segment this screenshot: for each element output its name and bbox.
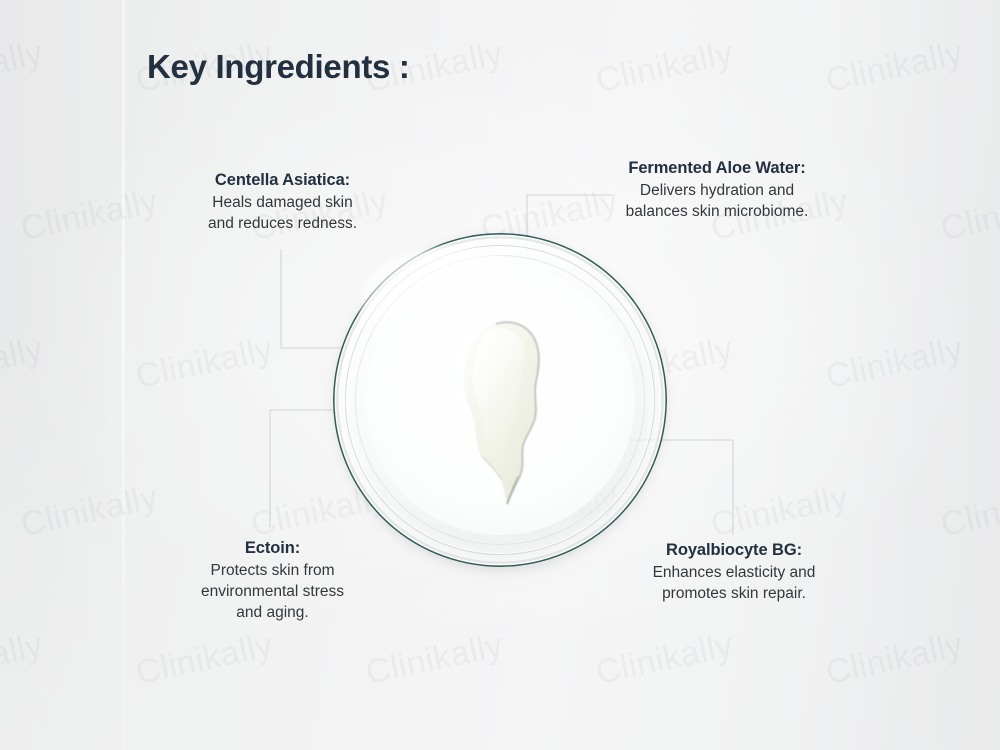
brand-watermark: Clinikally (937, 478, 1000, 545)
brand-watermark: Clinikally (362, 626, 506, 693)
background-band-edge (122, 0, 125, 750)
brand-watermark: Clinikally (937, 182, 1000, 249)
ingredient-desc-line: environmental stress (170, 582, 375, 603)
brand-watermark: Clinikally (132, 330, 276, 397)
background-band-lower-left (0, 320, 210, 750)
brand-watermark: Clinikally (592, 626, 736, 693)
ingredient-desc-line: Protects skin from (170, 561, 375, 582)
ingredient-desc-line: Heals damaged skin (175, 193, 390, 214)
ingredient-desc-line: Delivers hydration and (592, 181, 842, 202)
brand-watermark: Clinikally (17, 478, 161, 545)
ingredient-name: Royalbiocyte BG: (620, 541, 848, 560)
page-title: Key Ingredients : (147, 48, 410, 86)
ingredient-label-centella-asiatica: Centella Asiatica: Heals damaged skin an… (175, 171, 390, 235)
brand-watermark: Clinikally (822, 34, 966, 101)
brand-watermark: Clinikally (592, 34, 736, 101)
brand-watermark: Clinikally (0, 330, 47, 397)
cream-swatch (455, 318, 555, 508)
ingredient-desc-line: and aging. (170, 603, 375, 624)
ingredient-desc-line: and reduces redness. (175, 214, 390, 235)
ingredient-label-royalbiocyte-bg: Royalbiocyte BG: Enhances elasticity and… (620, 541, 848, 605)
ingredient-desc-line: promotes skin repair. (620, 584, 848, 605)
background-band-right (840, 0, 1000, 750)
ingredient-desc-line: balances skin microbiome. (592, 202, 842, 223)
infographic-canvas: ClinikallyClinikallyClinikallyClinikally… (0, 0, 1000, 750)
ingredient-desc-line: Enhances elasticity and (620, 563, 848, 584)
ingredient-name: Fermented Aloe Water: (592, 159, 842, 178)
brand-watermark: Clinikally (0, 626, 47, 693)
brand-watermark: Clinikally (707, 478, 851, 545)
ingredient-name: Centella Asiatica: (175, 171, 390, 190)
brand-watermark: Clinikally (822, 626, 966, 693)
ingredient-label-ectoin: Ectoin: Protects skin from environmental… (170, 539, 375, 624)
background-band-left (0, 0, 130, 750)
brand-watermark: Clinikally (17, 182, 161, 249)
brand-watermark: Clinikally (822, 330, 966, 397)
ingredient-name: Ectoin: (170, 539, 375, 558)
brand-watermark: Clinikally (132, 626, 276, 693)
brand-watermark: Clinikally (0, 34, 47, 101)
ingredient-label-fermented-aloe-water: Fermented Aloe Water: Delivers hydration… (592, 159, 842, 223)
